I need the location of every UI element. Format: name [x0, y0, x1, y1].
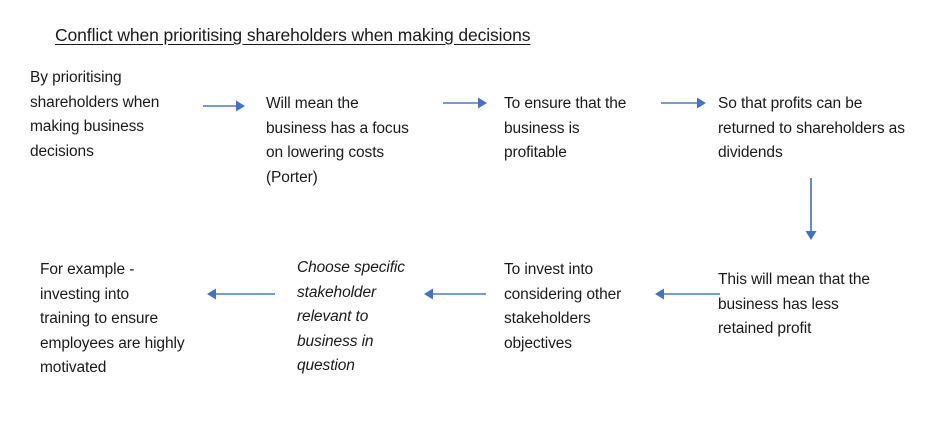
- diagram-canvas: Conflict when prioritising shareholders …: [0, 0, 929, 439]
- node-by-prioritising-shareholders: By prioritising shareholders when making…: [30, 66, 205, 164]
- arrow-right-node1-to-node2: [203, 99, 245, 113]
- arrow-left-node5-to-node6: [655, 287, 720, 301]
- node-business-is-profitable: To ensure that the business is profitabl…: [504, 92, 669, 166]
- node-profits-returned-as-dividends: So that profits can be returned to share…: [718, 92, 929, 166]
- arrow-right-node3-to-node4: [661, 96, 706, 110]
- arrow-down-node4-to-node5: [804, 178, 818, 240]
- arrow-left-node6-to-node7: [424, 287, 486, 301]
- arrow-left-node7-to-node8: [207, 287, 275, 301]
- page-title: Conflict when prioritising shareholders …: [55, 24, 530, 46]
- arrow-right-node2-to-node3: [443, 96, 487, 110]
- node-investing-into-training: For example - investing into training to…: [40, 258, 225, 381]
- node-consider-other-stakeholders: To invest into considering other stakeho…: [504, 258, 654, 356]
- node-choose-specific-stakeholder: Choose specific stakeholder relevant to …: [297, 256, 427, 379]
- node-focus-on-lowering-costs: Will mean the business has a focus on lo…: [266, 92, 451, 190]
- node-less-retained-profit: This will mean that the business has les…: [718, 268, 918, 342]
